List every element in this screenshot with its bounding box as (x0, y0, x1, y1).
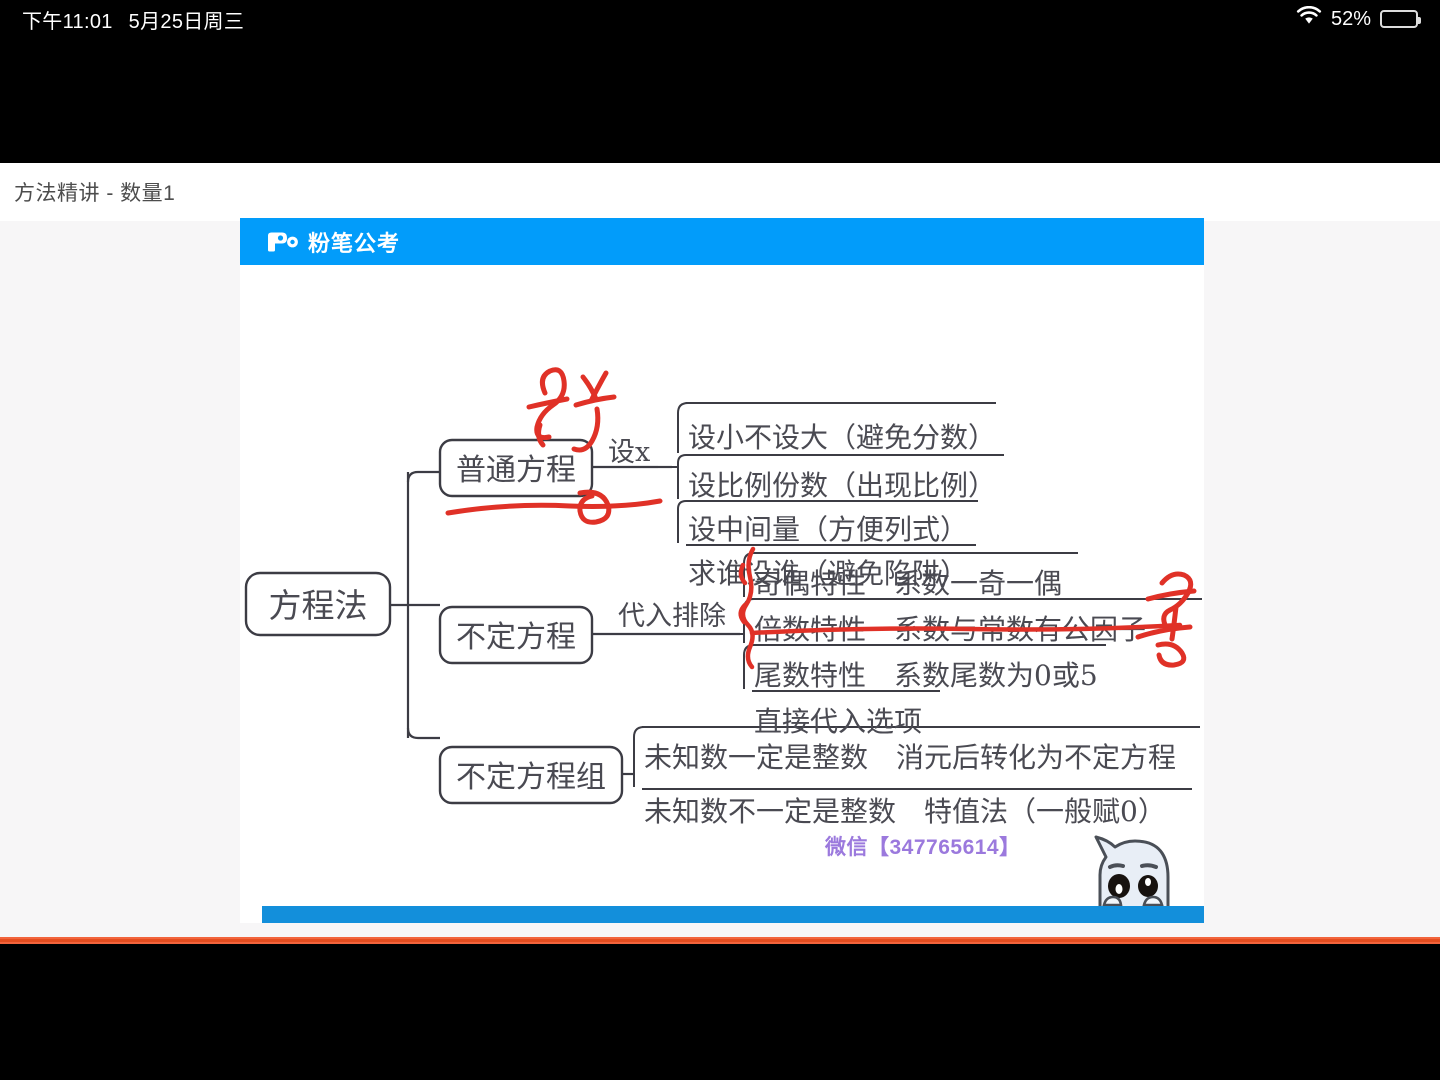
node-root-label: 方程法 (269, 586, 368, 625)
battery-percent-label: 52% (1331, 8, 1371, 31)
node-branch-putong-label: 普通方程 (456, 453, 576, 488)
slide-footer-bar (262, 906, 1204, 923)
leaf-putong-3: 设中间量（方便列式） (688, 513, 968, 546)
slide-container: 粉笔公考 (240, 218, 1204, 923)
red-scribble-right-icon (1138, 574, 1194, 665)
node-branch-buding-label: 不定方程 (456, 620, 576, 655)
leaf-putong-1: 设小不设大（避免分数） (688, 421, 996, 454)
status-bar: 下午11:01 5月25日周三 52% (0, 0, 1440, 38)
leaf-budingzu-1: 未知数一定是整数 消元后转化为不定方程 (644, 741, 1176, 774)
wifi-icon (1296, 6, 1322, 32)
status-bar-right: 52% (1296, 6, 1418, 32)
page-title: 方法精讲 - 数量1 (14, 177, 175, 207)
mindmap-canvas: 方程法 普通方程 不定方程 不定方程组 设x 代入排除 设小不设大（避免分数） (240, 265, 1204, 906)
progress-seek-line-fill (0, 939, 1440, 942)
status-time: 下午11:01 (22, 5, 113, 34)
leaf-buding-1: 奇偶特性 系数一奇一偶 (754, 567, 1062, 600)
brand-name-label: 粉笔公考 (308, 226, 400, 258)
battery-icon (1380, 10, 1418, 28)
edge-label-dairupaichu: 代入排除 (618, 601, 726, 632)
red-scribble-top-icon (529, 370, 614, 450)
leaf-buding-3: 尾数特性 系数尾数为0或5 (754, 659, 1098, 692)
lesson-page-area: 方法精讲 - 数量1 粉笔公考 (0, 163, 1440, 944)
mindmap-svg: 方程法 普通方程 不定方程 不定方程组 设x 代入排除 设小不设大（避免分数） (240, 265, 1204, 906)
fenbi-mascot-icon (1086, 823, 1182, 918)
fenbi-logo-icon (265, 231, 299, 253)
status-date: 5月25日周三 (129, 5, 244, 34)
leaf-putong-2: 设比例份数（出现比例） (688, 469, 996, 502)
status-bar-left: 下午11:01 5月25日周三 (22, 5, 244, 34)
slide-brand-header: 粉笔公考 (240, 218, 1204, 265)
lesson-title-bar: 方法精讲 - 数量1 (0, 163, 1440, 221)
edge-label-shex: 设x (608, 437, 650, 468)
leaf-buding-4: 直接代入选项 (754, 705, 922, 738)
app-root: 下午11:01 5月25日周三 52% 方法精讲 - 数量1 (0, 0, 1440, 1080)
node-branch-budingzu-label: 不定方程组 (456, 760, 606, 795)
wechat-watermark: 微信【347765614】 (825, 831, 1021, 861)
progress-seek-line[interactable] (0, 937, 1440, 944)
